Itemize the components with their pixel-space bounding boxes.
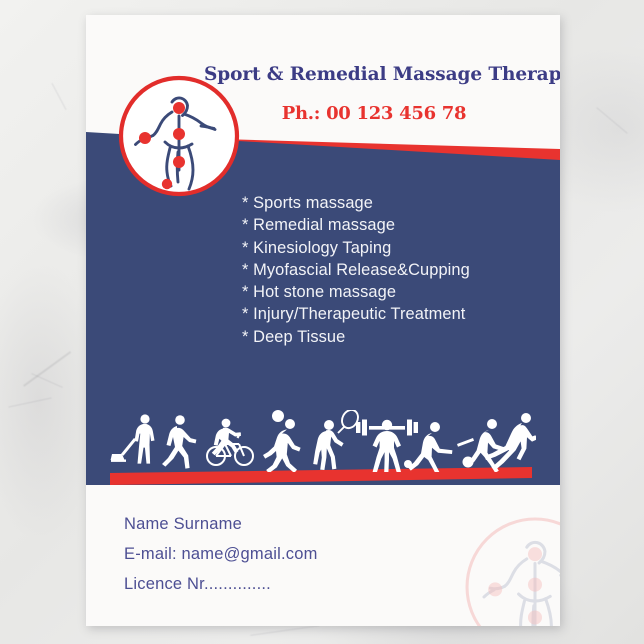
phone-number: Ph.: 00 123 456 78 — [204, 103, 544, 124]
marble-vein — [52, 83, 67, 110]
runner-icon — [162, 415, 196, 468]
flyer-page: Sport & Remedial Massage Therapist Ph.: … — [86, 15, 560, 626]
list-item: * Sports massage — [242, 192, 470, 214]
screenshot-stage: Sport & Remedial Massage Therapist Ph.: … — [0, 0, 644, 644]
services-list: * Sports massage * Remedial massage * Ki… — [242, 192, 470, 348]
contact-email: E-mail: name@gmail.com — [124, 539, 318, 569]
page-title: Sport & Remedial Massage Therapist — [204, 64, 544, 85]
marble-vein — [250, 625, 319, 636]
cyclist-icon — [207, 419, 253, 465]
sports-silhouettes-strip — [110, 410, 536, 472]
acupressure-body-logo — [115, 72, 243, 200]
marble-vein — [596, 107, 627, 134]
acupressure-body-watermark — [460, 512, 560, 626]
marble-vein — [23, 351, 71, 386]
marble-vein — [8, 397, 51, 407]
contact-name: Name Surname — [124, 509, 318, 539]
marble-vein — [31, 373, 63, 388]
list-item: * Kinesiology Taping — [242, 237, 470, 259]
contact-licence: Licence Nr.............. — [124, 569, 318, 599]
list-item: * Injury/Therapeutic Treatment — [242, 303, 470, 325]
volleyball-player-icon — [263, 410, 301, 472]
sled-push-icon — [111, 414, 155, 463]
list-item: * Remedial massage — [242, 214, 470, 236]
list-item: * Hot stone massage — [242, 281, 470, 303]
list-item: * Deep Tissue — [242, 326, 470, 348]
contact-block: Name Surname E-mail: name@gmail.com Lice… — [124, 509, 318, 599]
tennis-player-icon — [313, 410, 361, 470]
list-item: * Myofascial Release&Cupping — [242, 259, 470, 281]
